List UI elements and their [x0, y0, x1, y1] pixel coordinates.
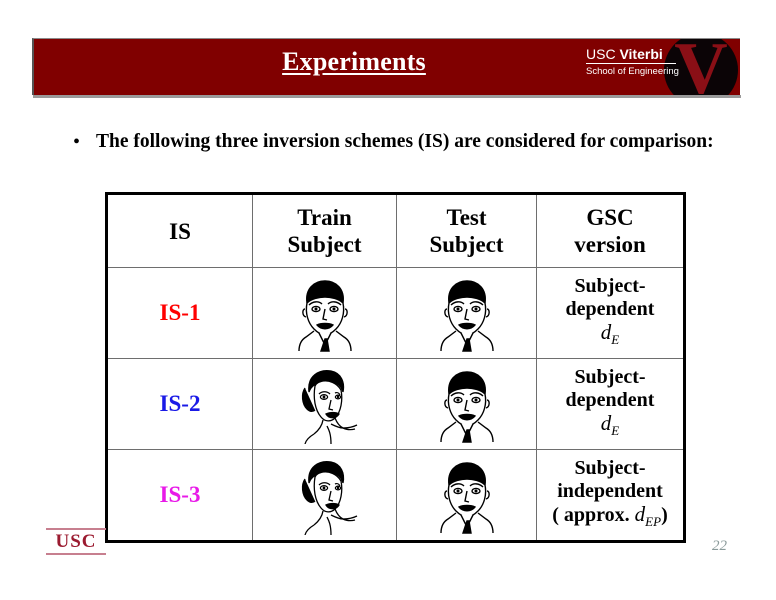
viterbi-v-icon: V	[670, 39, 732, 96]
gsc-version-cell: Subject- dependent dE	[537, 359, 685, 450]
female-face-icon	[281, 364, 369, 444]
male-face-icon	[281, 273, 369, 353]
is-label-cell: IS-2	[107, 359, 253, 450]
header-line: Train	[297, 205, 352, 230]
experiments-table: IS Train Subject Test Subject GSC versio…	[105, 192, 686, 543]
gsc-subscript: EP	[645, 514, 661, 529]
bullet-marker-icon: •	[70, 128, 96, 156]
header-line: Subject	[287, 232, 361, 257]
header-line: GSC	[586, 205, 633, 230]
train-subject-cell	[253, 359, 397, 450]
female-face-icon	[281, 455, 369, 535]
viterbi-name-text: Viterbi	[619, 46, 662, 62]
gsc-subscript: E	[611, 332, 619, 347]
gsc-subscript: E	[611, 423, 619, 438]
page-number: 22	[712, 538, 727, 555]
gsc-symbol-line: ( approx. dEP)	[537, 503, 683, 533]
viterbi-wordmark: USC Viterbi School of Engineering	[586, 47, 676, 78]
bullet-text: The following three inversion schemes (I…	[96, 128, 714, 156]
male-face-icon	[423, 455, 511, 535]
table-header-row: IS Train Subject Test Subject GSC versio…	[107, 194, 685, 268]
gsc-line-1: Subject-	[537, 457, 683, 480]
usc-logo-rule-bottom	[46, 553, 106, 555]
gsc-symbol-line: dE	[537, 321, 683, 351]
page-title: Experiments	[34, 47, 674, 77]
gsc-symbol: d	[601, 320, 612, 344]
header-band-shadow	[33, 95, 741, 98]
gsc-symbol-line: dE	[537, 412, 683, 442]
header-line: version	[574, 232, 646, 257]
gsc-version-cell: Subject- dependent dE	[537, 268, 685, 359]
viterbi-usc-text: USC	[586, 46, 619, 62]
test-subject-cell	[397, 359, 537, 450]
bullet-block: • The following three inversion schemes …	[70, 128, 720, 156]
column-header-is: IS	[107, 194, 253, 268]
usc-viterbi-logo: V USC Viterbi School of Engineering	[580, 39, 740, 96]
table-row: IS-1	[107, 268, 685, 359]
slide-header-band: Experiments V USC Viterbi School of Engi…	[32, 38, 740, 95]
column-header-train-subject: Train Subject	[253, 194, 397, 268]
usc-logo-text: USC	[46, 531, 106, 552]
gsc-prefix: ( approx.	[552, 504, 634, 526]
is-label-cell: IS-3	[107, 450, 253, 542]
gsc-version-cell: Subject- independent ( approx. dEP)	[537, 450, 685, 542]
test-subject-cell	[397, 268, 537, 359]
viterbi-subtitle: School of Engineering	[586, 66, 676, 78]
gsc-line-2: dependent	[537, 389, 683, 412]
gsc-line-2: independent	[537, 480, 683, 503]
test-subject-cell	[397, 450, 537, 542]
gsc-symbol: d	[635, 502, 646, 526]
header-line: Subject	[429, 232, 503, 257]
gsc-line-1: Subject-	[537, 275, 683, 298]
male-face-icon	[423, 273, 511, 353]
header-line: Test	[446, 205, 486, 230]
usc-logo-rule-top	[46, 528, 106, 530]
gsc-line-1: Subject-	[537, 366, 683, 389]
column-header-gsc-version: GSC version	[537, 194, 685, 268]
table-row: IS-2	[107, 359, 685, 450]
table-row: IS-3	[107, 450, 685, 542]
train-subject-cell	[253, 268, 397, 359]
header-line: IS	[169, 219, 191, 244]
gsc-symbol: d	[601, 411, 612, 435]
train-subject-cell	[253, 450, 397, 542]
is-label-cell: IS-1	[107, 268, 253, 359]
usc-footer-logo: USC	[46, 528, 106, 555]
male-face-icon	[423, 364, 511, 444]
column-header-test-subject: Test Subject	[397, 194, 537, 268]
gsc-suffix: )	[661, 504, 668, 526]
gsc-line-2: dependent	[537, 298, 683, 321]
